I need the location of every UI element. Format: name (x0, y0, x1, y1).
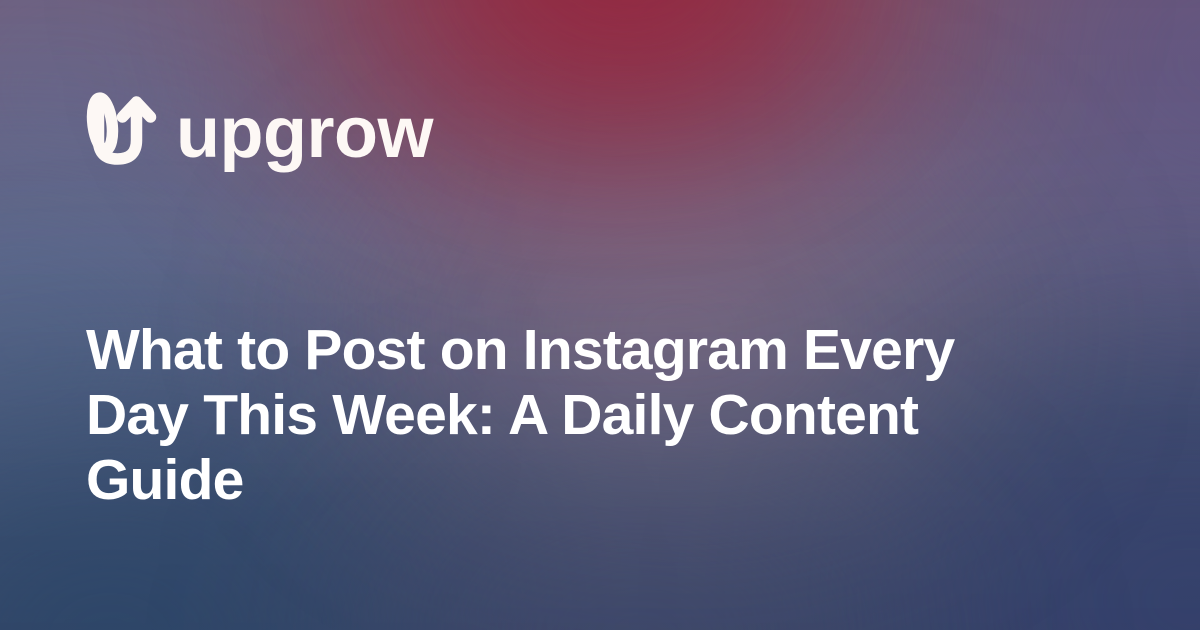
brand-logo[interactable]: upgrow (86, 88, 433, 170)
title-line-2: Day This Week: A Daily Content (86, 383, 1076, 448)
page-title: What to Post on Instagram Every Day This… (86, 318, 1076, 513)
title-line-3: Guide (86, 448, 1076, 513)
brand-wordmark: upgrow (176, 97, 433, 169)
social-share-card: upgrow What to Post on Instagram Every D… (0, 0, 1200, 630)
upgrow-u-turn-arrow-icon (86, 88, 162, 170)
card-content: upgrow What to Post on Instagram Every D… (0, 0, 1200, 630)
title-line-1: What to Post on Instagram Every (86, 318, 1076, 383)
